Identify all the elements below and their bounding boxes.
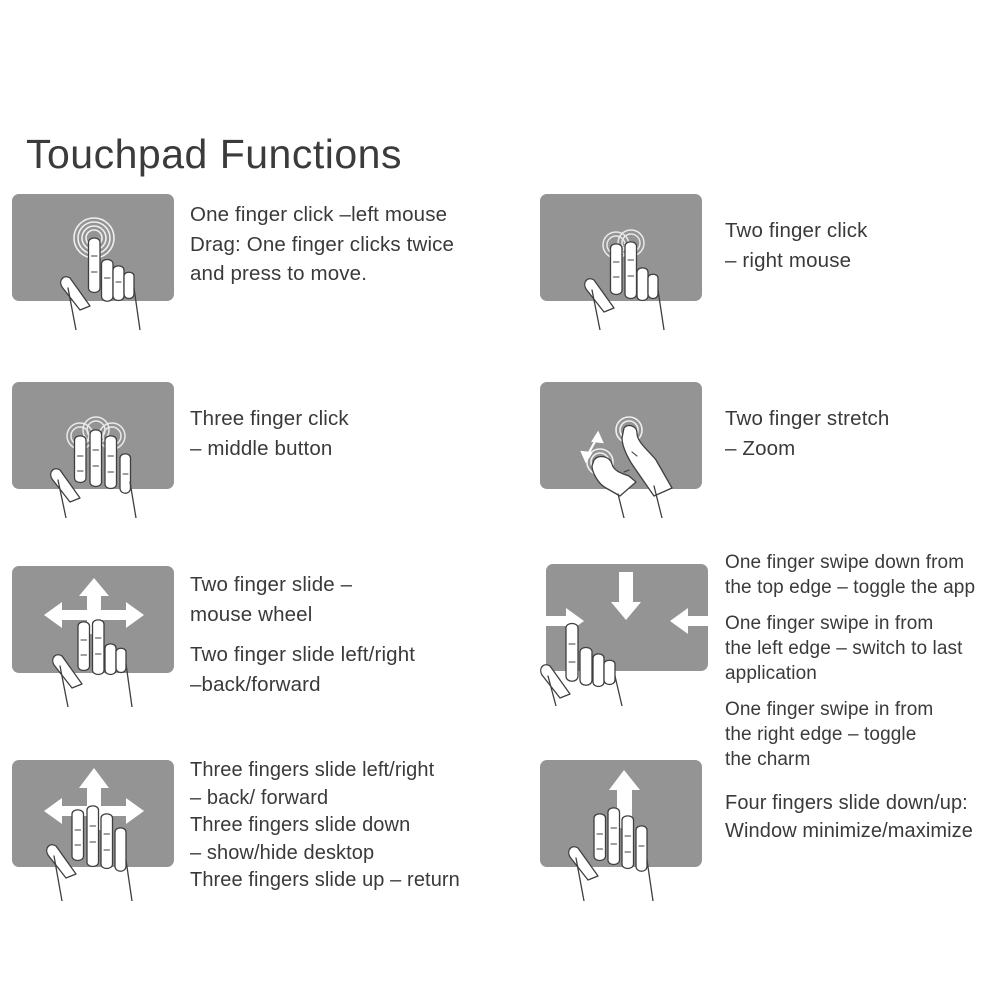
page-title: Touchpad Functions	[26, 131, 402, 178]
desc-line: One finger swipe in from	[725, 611, 1000, 636]
desc-line: – middle button	[190, 434, 490, 464]
desc-line: Two finger stretch	[725, 404, 995, 434]
desc-line: One finger swipe in from	[725, 697, 1000, 722]
touchpad-two-finger-slide-icon	[8, 562, 208, 702]
desc-line: Two finger slide –	[190, 570, 510, 600]
one-finger-click-description: One finger click –left mouse Drag: One f…	[190, 200, 520, 289]
three-finger-slide-description: Three fingers slide left/right – back/ f…	[190, 757, 510, 895]
desc-line: mouse wheel	[190, 600, 510, 630]
desc-line: Four fingers slide down/up:	[725, 790, 1000, 818]
touchpad-two-finger-stretch-icon	[536, 378, 736, 518]
desc-line: the left edge – switch to last	[725, 636, 1000, 661]
desc-line: Three fingers slide up – return	[190, 867, 510, 895]
touchpad-two-finger-click-icon	[536, 190, 736, 330]
touchpad-three-finger-slide-icon	[8, 756, 208, 896]
desc-line: Drag: One finger clicks twice	[190, 230, 520, 260]
desc-line: Three fingers slide down	[190, 812, 510, 840]
two-finger-stretch-description: Two finger stretch – Zoom	[725, 404, 995, 463]
paragraph-gap	[725, 600, 1000, 611]
touchpad-three-finger-click-icon	[8, 378, 208, 518]
desc-line: One finger click –left mouse	[190, 200, 520, 230]
touchpad-one-finger-click-icon	[8, 190, 208, 330]
touchpad-edge-swipe-icon	[536, 556, 736, 696]
three-finger-click-description: Three finger click – middle button	[190, 404, 490, 463]
touchpad-functions-page: Touchpad Functions	[0, 0, 1000, 1000]
two-finger-slide-description: Two finger slide – mouse wheel Two finge…	[190, 570, 510, 699]
paragraph-gap	[190, 629, 510, 640]
desc-line: Two finger slide left/right	[190, 640, 510, 670]
paragraph-gap	[725, 686, 1000, 697]
desc-line: – Zoom	[725, 434, 995, 464]
desc-line: the top edge – toggle the app	[725, 575, 1000, 600]
desc-line: Three finger click	[190, 404, 490, 434]
desc-line: Window minimize/maximize	[725, 818, 1000, 846]
desc-line: the right edge – toggle	[725, 722, 1000, 747]
desc-line: Three fingers slide left/right	[190, 757, 510, 785]
touchpad-four-finger-slide-icon	[536, 756, 736, 896]
desc-line: – back/ forward	[190, 785, 510, 813]
edge-swipe-description: One finger swipe down from the top edge …	[725, 550, 1000, 772]
desc-line: –back/forward	[190, 670, 510, 700]
four-finger-slide-description: Four fingers slide down/up: Window minim…	[725, 790, 1000, 845]
desc-line: and press to move.	[190, 259, 520, 289]
desc-line: – right mouse	[725, 246, 995, 276]
desc-line: One finger swipe down from	[725, 550, 1000, 575]
desc-line: Two finger click	[725, 216, 995, 246]
desc-line: – show/hide desktop	[190, 840, 510, 868]
two-finger-click-description: Two finger click – right mouse	[725, 216, 995, 275]
desc-line: application	[725, 661, 1000, 686]
desc-line: the charm	[725, 747, 1000, 772]
